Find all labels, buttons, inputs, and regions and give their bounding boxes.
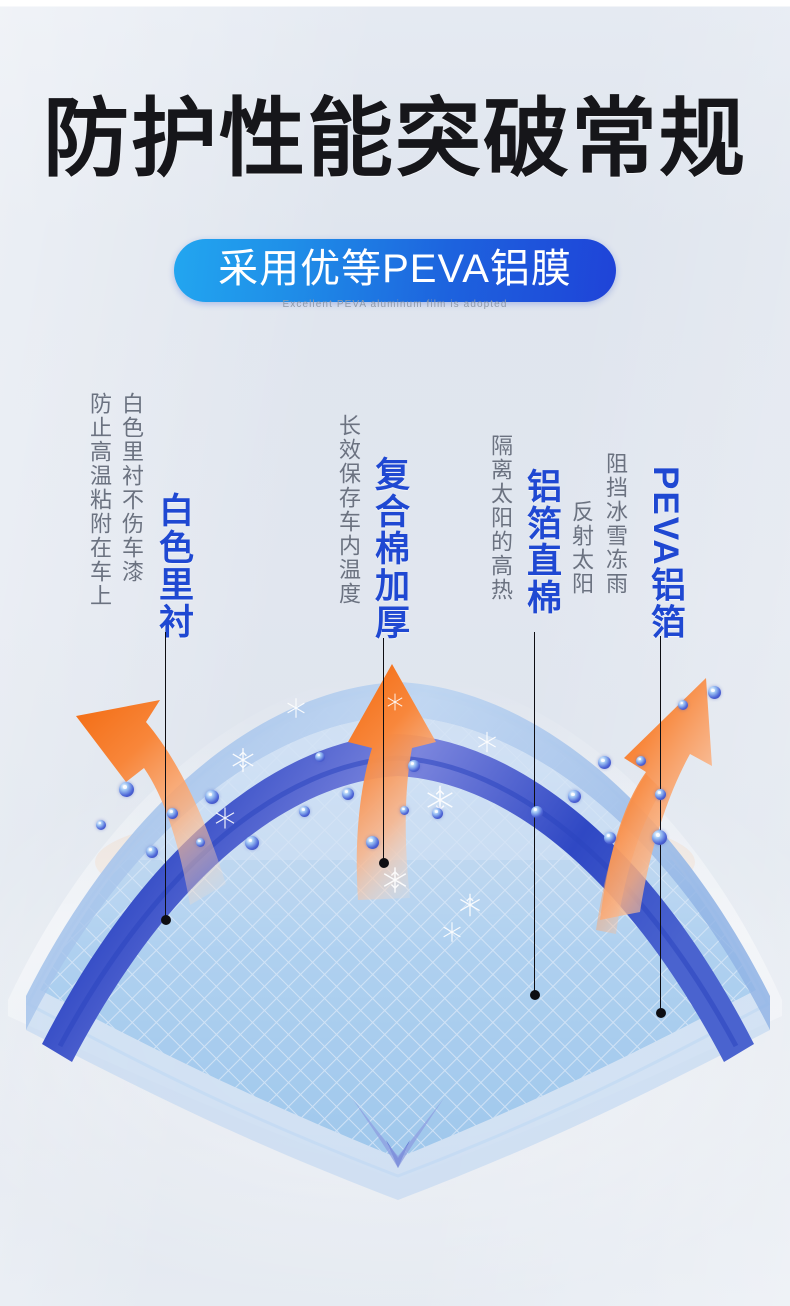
water-bubble — [167, 808, 178, 819]
feature-1-desc-2: 防止高温粘附在车上 — [88, 392, 110, 608]
water-bubble — [342, 788, 354, 800]
infographic-page: 防护性能突破常规 采用优等PEVA铝膜 Excellent PEVA alumi… — [0, 0, 790, 1306]
feature-4-desc-1: 阻挡冰雪冻雨 — [604, 452, 626, 596]
feature-1-heading: 白色里衬 — [156, 492, 191, 640]
water-bubble — [636, 756, 646, 766]
water-bubble — [245, 836, 259, 850]
water-bubble — [196, 838, 205, 847]
water-bubble — [708, 686, 721, 699]
water-bubble — [598, 756, 611, 769]
water-bubble — [315, 752, 325, 762]
water-bubble — [205, 790, 219, 804]
product-cross-section-illustration — [0, 0, 790, 1306]
badge-container: 采用优等PEVA铝膜 — [0, 239, 790, 302]
water-bubble — [299, 806, 310, 817]
feature-4-heading-latin: PEVA — [646, 466, 685, 567]
feature-4-desc-2: 反射太阳 — [570, 500, 592, 596]
water-bubble — [604, 832, 616, 844]
water-bubble — [400, 806, 409, 815]
peva-badge: 采用优等PEVA铝膜 — [174, 239, 616, 302]
feature-3-heading: 铝箔直棉 — [524, 468, 559, 616]
page-title: 防护性能突破常规 — [0, 96, 790, 182]
water-bubble — [96, 820, 106, 830]
feature-2-leader-line — [383, 638, 384, 863]
water-bubble — [652, 830, 667, 845]
feature-1-desc-1: 白色里衬不伤车漆 — [120, 392, 142, 584]
water-bubble — [366, 836, 379, 849]
feature-4-leader-line — [660, 636, 661, 1013]
feature-3-desc-1: 隔离太阳的高热 — [489, 434, 511, 602]
water-bubble — [678, 700, 688, 710]
water-bubble — [531, 806, 543, 818]
feature-2-desc-1: 长效保存车内温度 — [337, 414, 359, 606]
feature-2-heading: 复合棉加厚 — [372, 456, 407, 641]
feature-1-leader-line — [165, 632, 166, 920]
water-bubble — [119, 782, 134, 797]
water-bubble — [146, 846, 158, 858]
feature-4-heading-cjk: 铝箔 — [646, 567, 685, 641]
badge-subtitle: Excellent PEVA aluminum film is adopted — [0, 299, 790, 310]
water-bubble — [568, 790, 581, 803]
water-bubble — [408, 760, 420, 772]
water-bubble — [655, 789, 666, 800]
water-bubble — [432, 808, 443, 819]
feature-4-heading: PEVA铝箔 — [648, 466, 683, 641]
